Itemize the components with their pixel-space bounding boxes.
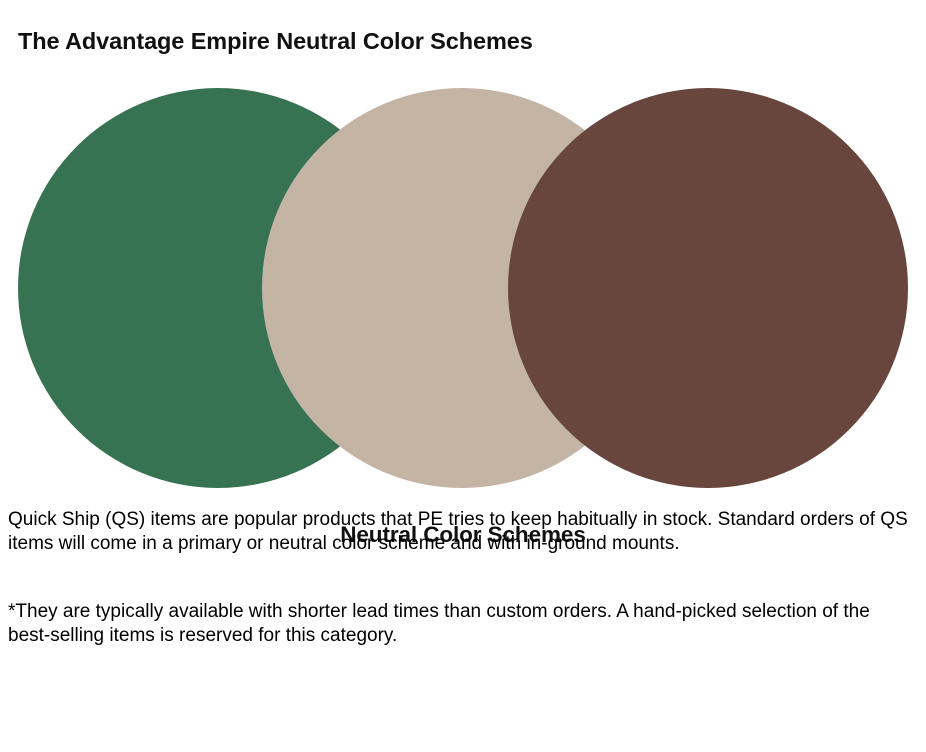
page-title: The Advantage Empire Neutral Color Schem… (18, 28, 533, 55)
color-swatch-group (0, 88, 926, 490)
paragraph-quick-ship: Quick Ship (QS) items are popular produc… (8, 508, 908, 555)
brown-swatch (508, 88, 908, 488)
document-page: The Advantage Empire Neutral Color Schem… (0, 0, 926, 752)
paragraph-lead-times: *They are typically available with short… (8, 600, 908, 647)
